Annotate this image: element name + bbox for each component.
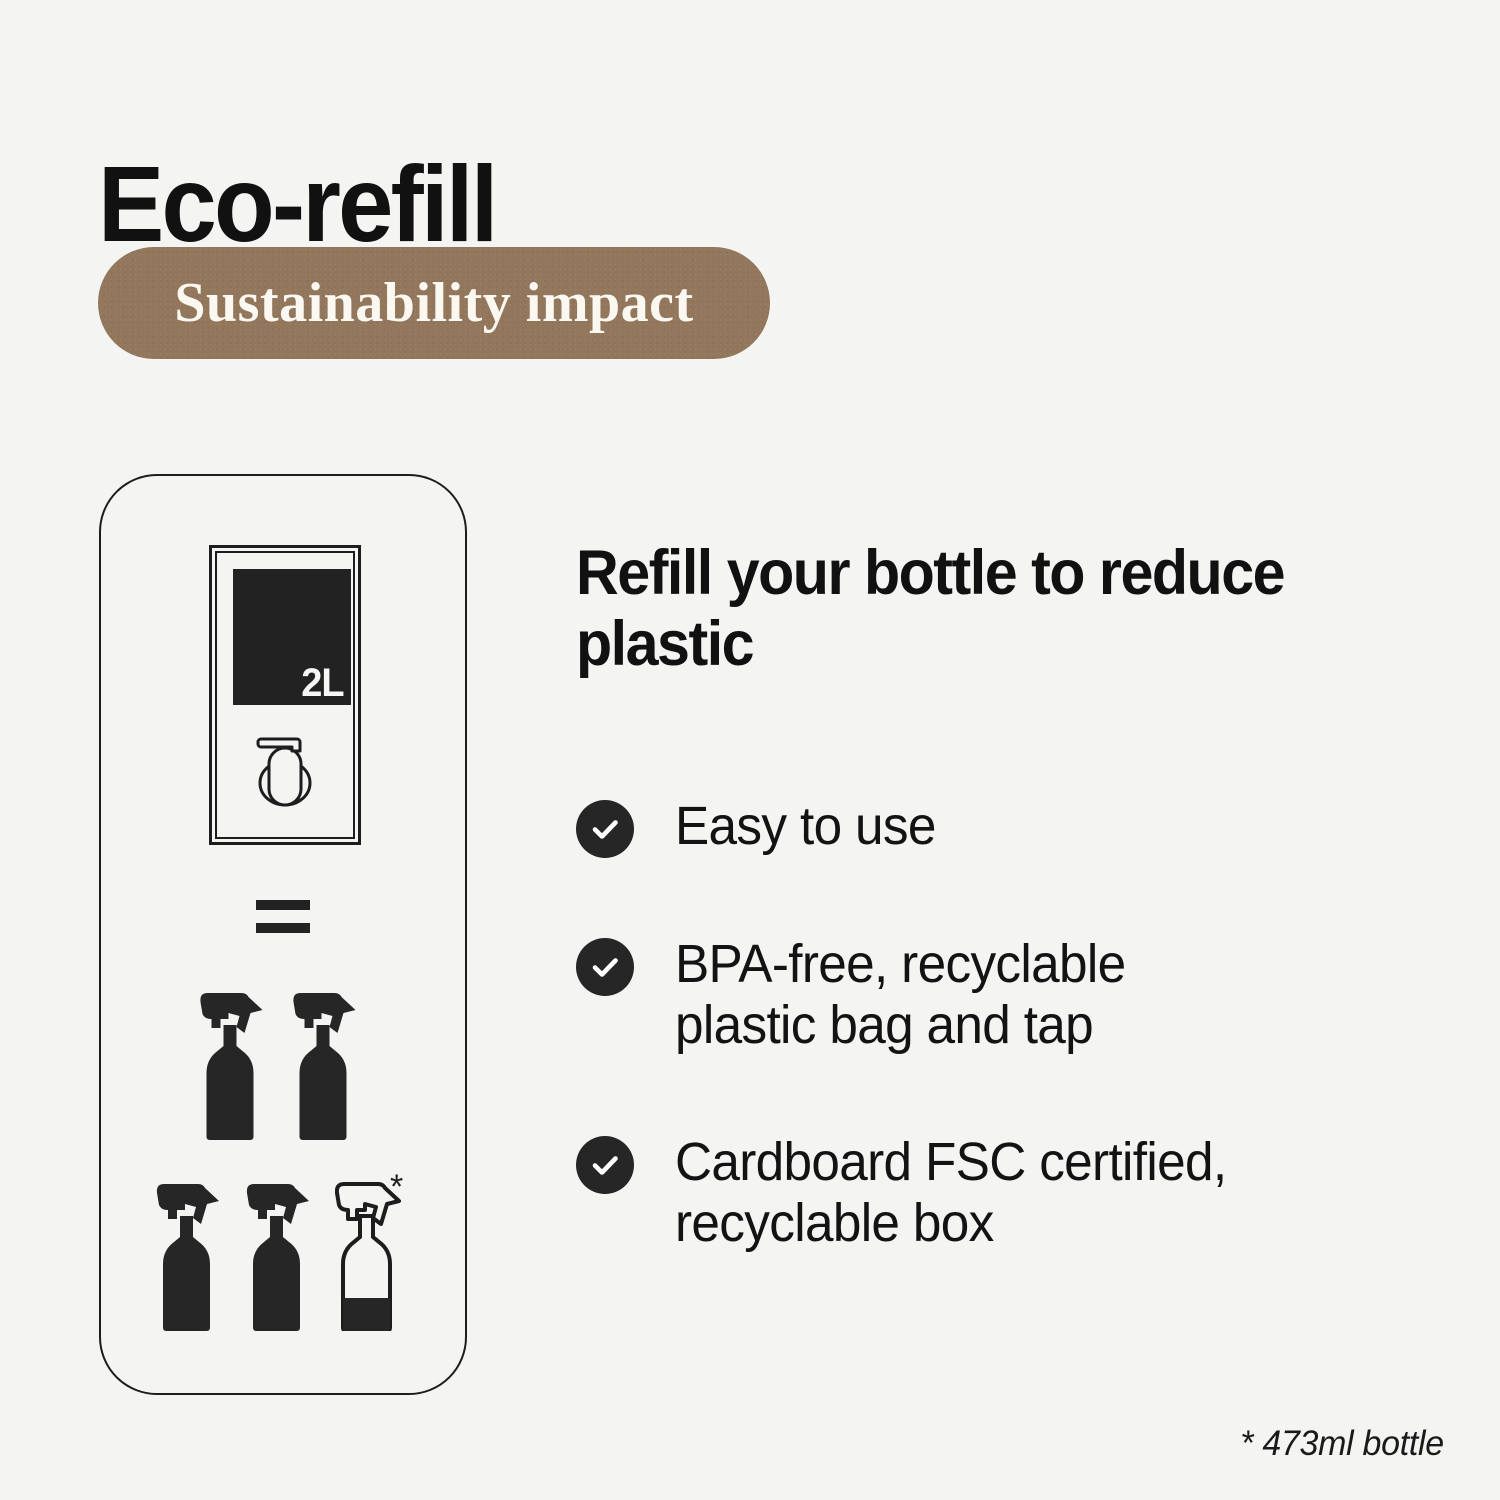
content-column: Refill your bottle to reduce plastic Eas… [576, 538, 1436, 680]
box-volume-label: 2L [302, 663, 344, 703]
equals-bar-bottom [256, 923, 310, 933]
benefit-list: Easy to use BPA-free, recyclable plastic… [576, 796, 1436, 1330]
check-circle-icon [576, 800, 634, 858]
list-item: Cardboard FSC certified, recyclable box [576, 1132, 1436, 1254]
bottle-row-top [199, 985, 368, 1140]
footnote: * 473ml bottle [1240, 1424, 1444, 1464]
spray-bottle-icon [245, 1176, 321, 1331]
equals-bar-top [256, 900, 310, 910]
status-badge: Sustainability impact [98, 247, 770, 359]
box-label-block: 2L [233, 569, 351, 705]
tap-spigot-icon [245, 731, 325, 815]
page-title: Eco-refill [98, 150, 496, 258]
list-item: Easy to use [576, 796, 1436, 858]
footnote-asterisk-mark: * [390, 1170, 403, 1204]
check-circle-icon [576, 1136, 634, 1194]
content-heading: Refill your bottle to reduce plastic [576, 538, 1384, 680]
illustration-panel: 2L [99, 474, 467, 1395]
check-circle-icon [576, 938, 634, 996]
status-badge-label: Sustainability impact [174, 271, 693, 335]
benefit-label: Cardboard FSC certified, recyclable box [675, 1132, 1226, 1254]
spray-bottle-icon [292, 985, 368, 1140]
list-item: BPA-free, recyclable plastic bag and tap [576, 934, 1436, 1056]
refill-box-graphic: 2L [209, 545, 361, 845]
equals-sign-icon [256, 900, 310, 933]
benefit-label: Easy to use [675, 796, 936, 857]
refill-box-inner-border: 2L [215, 551, 355, 839]
benefit-label: BPA-free, recyclable plastic bag and tap [675, 934, 1125, 1056]
bottle-row-bottom [155, 1176, 411, 1331]
spray-bottle-icon [155, 1176, 231, 1331]
spray-bottle-icon [199, 985, 275, 1140]
